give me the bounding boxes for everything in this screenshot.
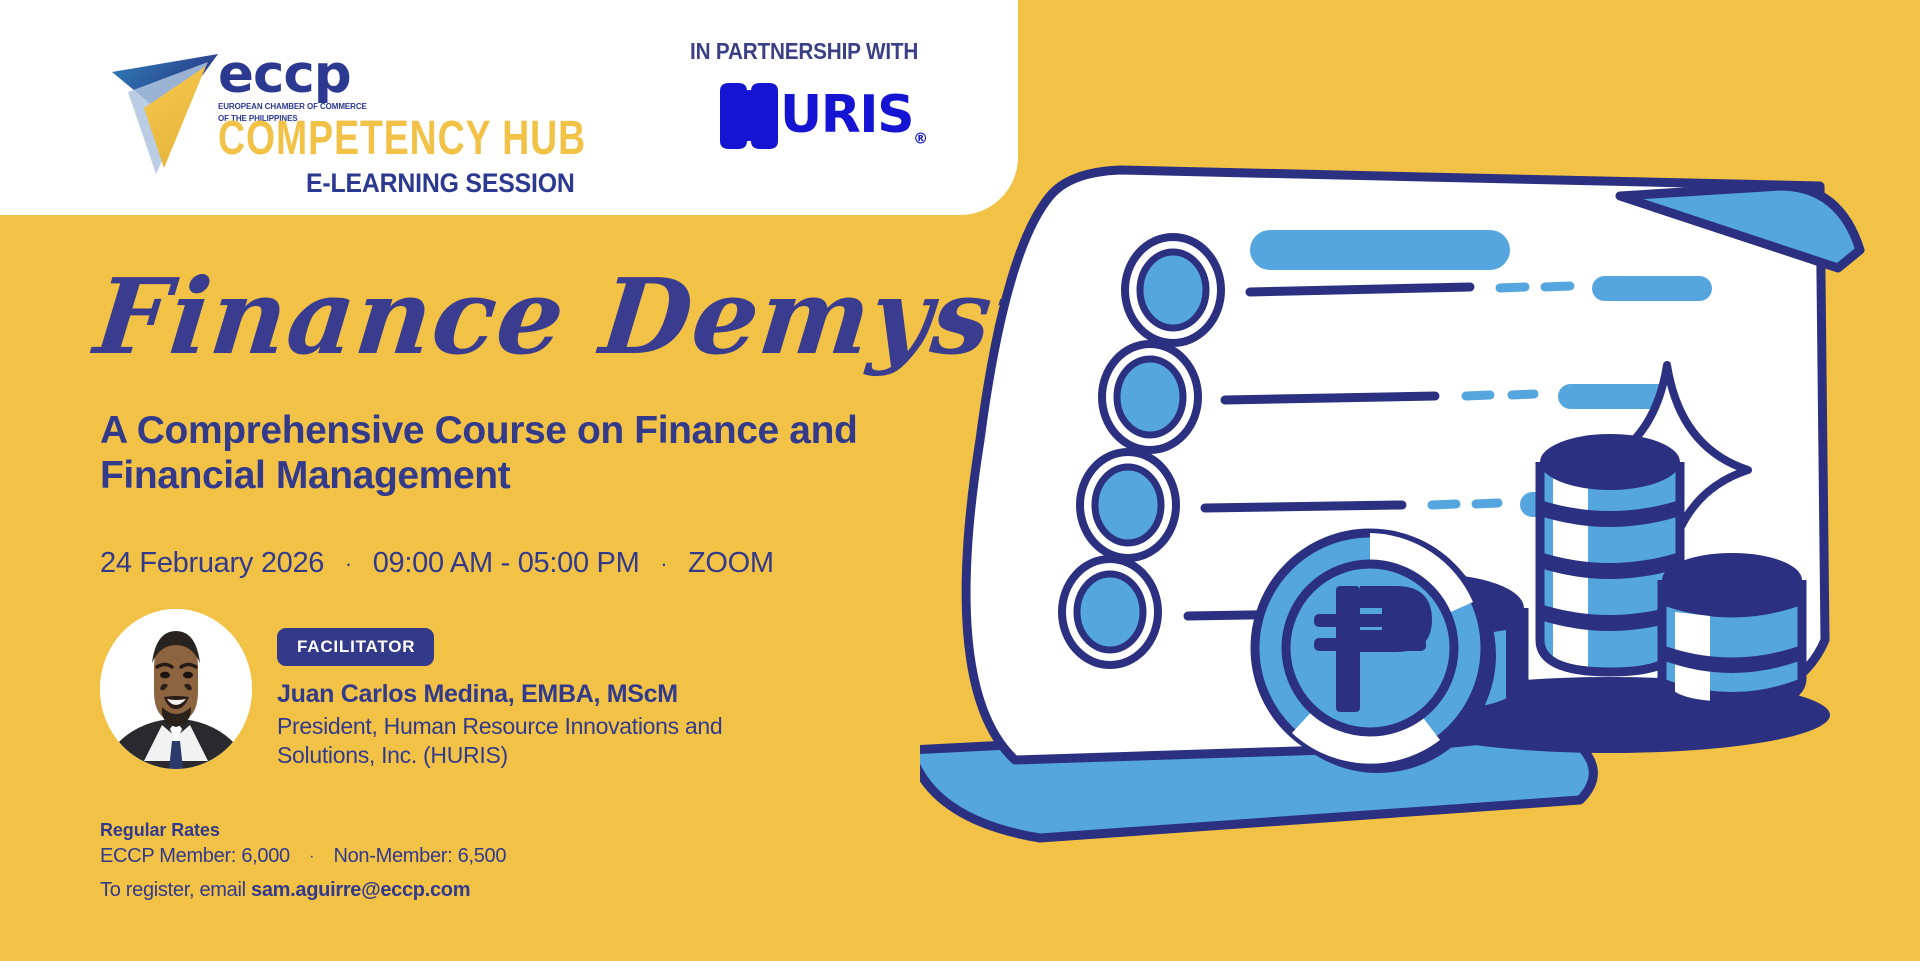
avatar-portrait-icon [100, 609, 252, 769]
competency-hub-title: COMPETENCY HUB [218, 111, 586, 166]
registration-line: To register, email sam.aguirre@eccp.com [100, 879, 470, 902]
rate-non-member: Non-Member: 6,500 [333, 845, 506, 867]
finance-receipt-illustration [920, 0, 1920, 961]
facilitator-avatar [100, 609, 252, 769]
separator-dot-icon: · [295, 848, 328, 865]
separator-dot-icon: · [332, 551, 365, 576]
huris-h-icon [718, 83, 780, 149]
header-panel: eccp EUROPEAN CHAMBER OF COMMERCE OF THE… [0, 0, 1018, 215]
register-prefix: To register, email [100, 879, 251, 901]
event-details-line: 24 February 2026 · 09:00 AM - 05:00 PM ·… [100, 547, 774, 580]
receipt-header-bar [1250, 230, 1510, 270]
coin-stack-short [1662, 553, 1802, 706]
separator-dot-icon: · [647, 551, 680, 576]
facilitator-role: President, Human Resource Innovations an… [277, 712, 797, 770]
rates-heading: Regular Rates [100, 820, 220, 841]
rates-values: ECCP Member: 6,000 · Non-Member: 6,500 [100, 845, 506, 868]
session-type-label: E-LEARNING SESSION [306, 168, 575, 199]
huris-wordmark: URIS® [780, 89, 928, 146]
eccp-logo: eccp EUROPEAN CHAMBER OF COMMERCE OF THE… [110, 28, 620, 193]
eccp-acronym: eccp [218, 50, 448, 100]
course-subtitle: A Comprehensive Course on Finance and Fi… [100, 408, 1000, 498]
facilitator-name: Juan Carlos Medina, EMBA, MScM [277, 680, 678, 709]
huris-logo: URIS® [718, 83, 948, 151]
huris-name: URIS [780, 85, 913, 145]
register-email[interactable]: sam.aguirre@eccp.com [251, 879, 470, 901]
event-venue: ZOOM [688, 547, 774, 579]
rate-member: ECCP Member: 6,000 [100, 845, 290, 867]
event-date: 24 February 2026 [100, 547, 324, 579]
event-time: 09:00 AM - 05:00 PM [373, 547, 640, 579]
eccp-plane-icon [110, 46, 230, 186]
huris-registered-icon: ® [913, 129, 928, 147]
partnership-label: IN PARTNERSHIP WITH [690, 38, 918, 65]
facilitator-badge: FACILITATOR [277, 628, 434, 666]
